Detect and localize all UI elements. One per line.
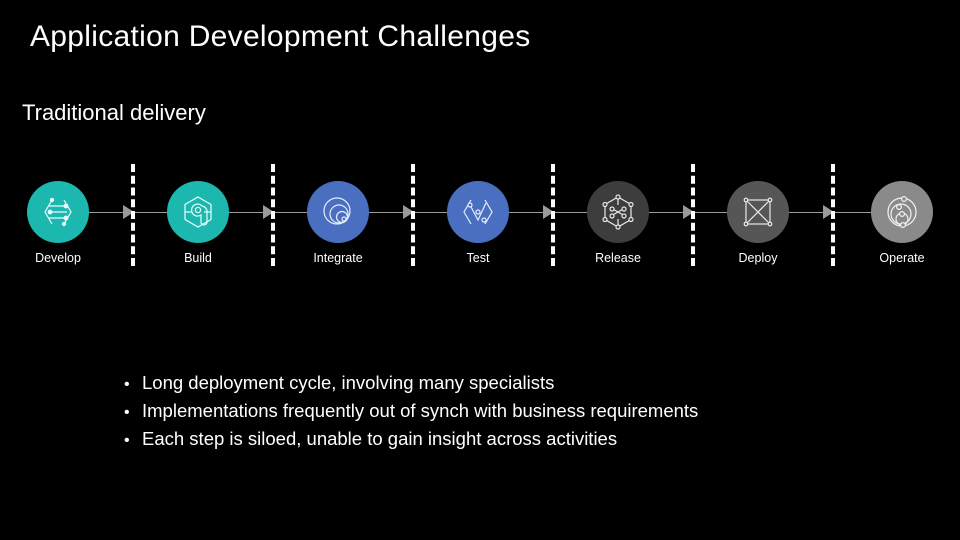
bullet-marker: • xyxy=(124,400,142,426)
stage-divider xyxy=(131,164,135,266)
pipeline-stage-build[interactable]: Build xyxy=(138,160,258,265)
stage-bubble-test xyxy=(447,181,509,243)
stage-bubble-build xyxy=(167,181,229,243)
square-diagonals-icon xyxy=(738,192,778,232)
list-item-text: Long deployment cycle, involving many sp… xyxy=(142,370,554,396)
stage-label: Release xyxy=(558,251,678,265)
slide-canvas: Application Development Challenges Tradi… xyxy=(0,0,960,540)
page-title: Application Development Challenges xyxy=(30,20,531,54)
pipeline-stage-deploy[interactable]: Deploy xyxy=(698,160,818,265)
stage-label: Operate xyxy=(842,251,960,265)
pipeline-stage-integrate[interactable]: Integrate xyxy=(278,160,398,265)
list-item: • Implementations frequently out of sync… xyxy=(124,398,924,426)
bullet-marker: • xyxy=(124,428,142,454)
stage-label: Develop xyxy=(0,251,118,265)
stage-label: Deploy xyxy=(698,251,818,265)
slide-subtitle: Traditional delivery xyxy=(22,100,206,126)
bullet-marker: • xyxy=(124,372,142,398)
list-item-text: Implementations frequently out of synch … xyxy=(142,398,698,424)
code-brackets-icon xyxy=(38,192,78,232)
orbit-rings-icon xyxy=(882,192,922,232)
hexagon-wrench-icon xyxy=(178,192,218,232)
stage-label: Build xyxy=(138,251,258,265)
pipeline-stage-operate[interactable]: Operate xyxy=(842,160,960,265)
list-item: • Each step is siloed, unable to gain in… xyxy=(124,426,924,454)
stage-divider xyxy=(411,164,415,266)
stage-divider xyxy=(831,164,835,266)
list-item-text: Each step is siloed, unable to gain insi… xyxy=(142,426,617,452)
stage-label: Test xyxy=(418,251,538,265)
challenges-list: • Long deployment cycle, involving many … xyxy=(124,370,924,454)
stage-bubble-deploy xyxy=(727,181,789,243)
stage-divider xyxy=(551,164,555,266)
stage-label: Integrate xyxy=(278,251,398,265)
node-network-icon xyxy=(598,192,638,232)
delivery-pipeline: Develop Build xyxy=(0,160,960,280)
stage-bubble-integrate xyxy=(307,181,369,243)
checkmark-brackets-icon xyxy=(458,192,498,232)
stage-bubble-operate xyxy=(871,181,933,243)
spiral-circles-icon xyxy=(318,192,358,232)
stage-divider xyxy=(271,164,275,266)
pipeline-stage-develop[interactable]: Develop xyxy=(0,160,118,265)
stage-bubble-release xyxy=(587,181,649,243)
pipeline-stage-test[interactable]: Test xyxy=(418,160,538,265)
stage-bubble-develop xyxy=(27,181,89,243)
pipeline-stage-release[interactable]: Release xyxy=(558,160,678,265)
list-item: • Long deployment cycle, involving many … xyxy=(124,370,924,398)
stage-divider xyxy=(691,164,695,266)
